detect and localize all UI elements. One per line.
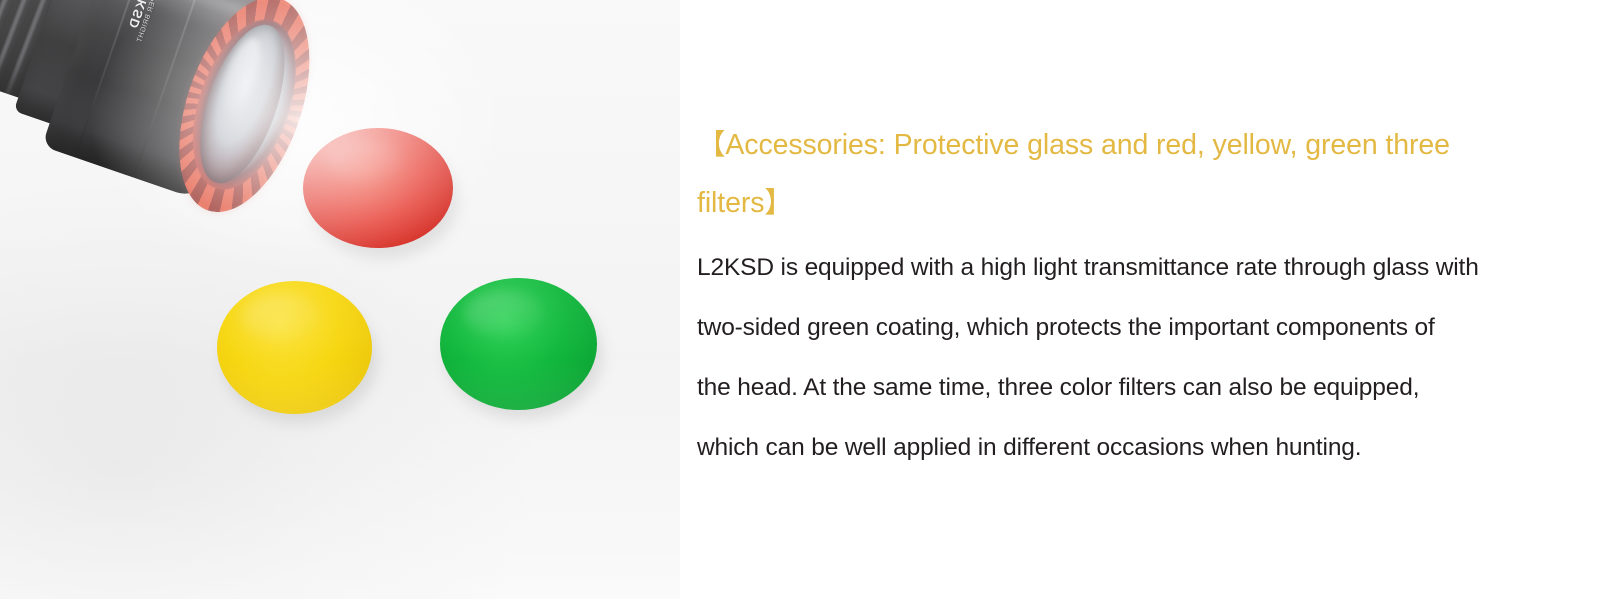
green-filter-disc: [440, 278, 597, 410]
red-filter-sheen: [327, 140, 402, 181]
paragraph-line: which can be well applied in different o…: [697, 418, 1557, 478]
red-filter-disc: [303, 128, 453, 248]
yellow-filter-sheen: [242, 294, 320, 339]
product-photo: L2KSD SUPER BRIGHT: [0, 0, 680, 599]
paragraph-line: two-sided green coating, which protects …: [697, 298, 1557, 358]
description-text-pane: 【Accessories: Protective glass and red, …: [680, 0, 1600, 599]
accessories-heading: 【Accessories: Protective glass and red, …: [697, 116, 1527, 232]
description-paragraph: L2KSD is equipped with a high light tran…: [697, 238, 1557, 478]
flashlight-body: L2KSD SUPER BRIGHT: [0, 0, 330, 240]
paragraph-line: the head. At the same time, three color …: [697, 358, 1557, 418]
green-filter-sheen: [465, 291, 544, 336]
paragraph-line: L2KSD is equipped with a high light tran…: [697, 238, 1557, 298]
product-description-banner: L2KSD SUPER BRIGHT 【Accessories: Protect…: [0, 0, 1600, 599]
yellow-filter-disc: [217, 281, 372, 414]
